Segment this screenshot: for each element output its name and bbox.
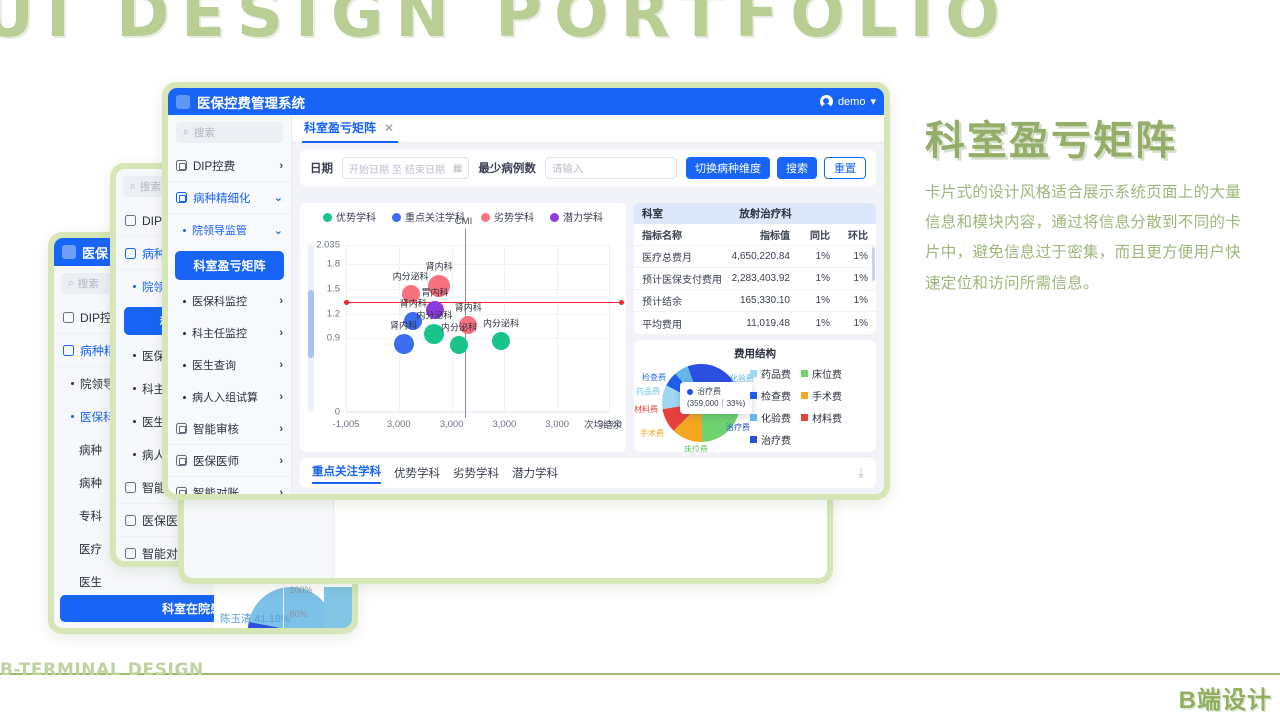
legend-swatch	[550, 213, 559, 222]
search-icon: ⌕	[68, 277, 74, 290]
sidebar-item-label: 科主任监控	[192, 325, 247, 341]
poster-root: UI DESIGN PORTFOLIO 科室盈亏矩阵 卡片式的设计风格适合展示系…	[0, 0, 1280, 720]
bullet-icon	[133, 387, 136, 390]
legend-swatch	[392, 213, 401, 222]
window-title: 医保控费管理系统	[197, 92, 305, 112]
content-area: 科室盈亏矩阵 ✕ 日期 开始日期 至 结束日期 ▦	[292, 115, 884, 494]
legend-swatch	[801, 370, 808, 377]
pie-legend-col-2: 床位费 手术费 材料费	[801, 366, 842, 447]
chevron-right-icon: ›	[279, 423, 283, 435]
pie-legend-item[interactable]: 药品费	[750, 366, 791, 381]
back2-search-placeholder: 搜索	[140, 179, 161, 194]
hospital-cmi-reference-line: 医院CMI	[346, 302, 622, 303]
legend-swatch	[750, 370, 757, 377]
footer-left-text: B-TERMINAL DESIGN	[0, 660, 204, 680]
sidebar-search-placeholder: 搜索	[194, 125, 215, 140]
module-icon	[125, 248, 136, 259]
x-axis-tick: 3,000	[387, 419, 411, 430]
date-range-input[interactable]: 开始日期 至 结束日期 ▦	[342, 157, 469, 179]
tab-profit-matrix[interactable]: 科室盈亏矩阵 ✕	[302, 115, 398, 143]
back3-bar-ytick-1: 80%	[290, 609, 308, 619]
gridline-horizontal	[346, 338, 610, 339]
x-axis-tick: 3,000	[493, 419, 517, 430]
bullet-icon	[183, 396, 186, 399]
scatter-plot: 00.91.21.51.82.035-1,0053,0003,0003,0003…	[346, 245, 610, 412]
calendar-icon[interactable]: ▦	[453, 163, 462, 174]
date-separator: 至	[392, 161, 402, 176]
sidebar-item-label: 医保科监控	[192, 293, 247, 309]
scatter-point[interactable]	[394, 334, 414, 354]
search-button[interactable]: 搜索	[777, 157, 817, 179]
user-menu[interactable]: demo ▾	[820, 95, 876, 108]
bullet-icon	[133, 453, 136, 456]
sidebar-item-patient-grouping[interactable]: 病人入组试算 ›	[168, 381, 291, 413]
legend-label: 药品费	[761, 366, 791, 381]
metrics-table: 科室 放射治疗科 指标名称 指标值 同比 环比	[634, 203, 876, 334]
cell-mom: 1%	[830, 273, 868, 284]
table-dept-header: 科室 放射治疗科	[634, 203, 876, 224]
col-mom: 环比	[830, 227, 868, 242]
x-axis-tick: 3,000	[545, 419, 569, 430]
cell-value: 4,650,220.84	[724, 251, 790, 262]
pie-legend-item[interactable]: 检查费	[750, 388, 791, 403]
chevron-right-icon: ›	[279, 391, 283, 403]
col-yoy: 同比	[790, 227, 830, 242]
gridline-horizontal	[346, 245, 610, 246]
tooltip-detail: (359,000｜33%)	[687, 398, 745, 410]
scatter-point-label: 内分泌科	[483, 317, 519, 330]
date-label: 日期	[310, 160, 333, 176]
back3-item-label: 专科	[71, 508, 102, 524]
pie-legend-item[interactable]: 治疗费	[750, 432, 791, 447]
sidebar-item-smart-reconcile[interactable]: 智能对账 ›	[168, 477, 291, 494]
gridline-vertical	[557, 245, 558, 412]
tooltip-name: 治疗费	[697, 386, 721, 398]
cell-value: 2,283,403.92	[724, 273, 790, 284]
chevron-right-icon: ›	[279, 455, 283, 467]
search-icon: ⌕	[183, 126, 189, 139]
sidebar-item-insurance-monitor[interactable]: 医保科监控 ›	[168, 285, 291, 317]
chevron-right-icon: ›	[279, 160, 283, 172]
pie-callout-床位费: 床位费	[684, 444, 708, 452]
bottom-tab-1[interactable]: 优势学科	[394, 465, 440, 481]
poster-banner-title: UI DESIGN PORTFOLIO	[0, 0, 1280, 44]
legend-label: 治疗费	[761, 432, 791, 447]
module-icon	[176, 160, 187, 171]
tooltip-dot-icon	[687, 389, 693, 395]
legend-swatch	[750, 414, 757, 421]
sidebar-item-profit-matrix[interactable]: 科室盈亏矩阵	[175, 251, 284, 280]
module-icon	[125, 515, 136, 526]
module-icon	[125, 215, 136, 226]
back3-title-text: 医保	[82, 243, 108, 262]
sidebar-item-smart-audit[interactable]: 智能审核 ›	[168, 413, 291, 445]
bullet-icon	[133, 354, 136, 357]
legend-label: 潜力学科	[563, 213, 603, 224]
sidebar-item-label: 智能审核	[193, 421, 239, 437]
y-axis-tick: 0	[335, 407, 340, 418]
bullet-icon	[133, 285, 136, 288]
pie-legend-item[interactable]: 床位费	[801, 366, 842, 381]
sidebar-item-label: DIP控费	[193, 158, 235, 174]
date-start-placeholder: 开始日期	[349, 161, 389, 176]
legend-item-2[interactable]: 劣势学科	[481, 209, 534, 224]
main-window-frame: 医保控费管理系统 demo ▾ ⌕ 搜索	[162, 82, 890, 500]
right-column: 科室 放射治疗科 指标名称 指标值 同比 环比	[634, 203, 876, 452]
sidebar-item-label: 智能对账	[193, 485, 239, 495]
pie-callout-手术费: 手术费	[640, 428, 664, 439]
chevron-down-icon: ⌄	[274, 224, 283, 237]
x-axis-tick: -1,005	[333, 419, 360, 430]
chevron-down-icon: ⌄	[274, 191, 283, 204]
y-axis-tick: 2.035	[316, 240, 340, 251]
date-end-placeholder: 结束日期	[405, 161, 445, 176]
chart-vertical-scrollbar[interactable]	[308, 243, 314, 412]
cell-yoy: 1%	[790, 295, 830, 306]
legend-swatch	[481, 213, 490, 222]
table-row[interactable]: 预计医保支付费用 2,283,403.92 1% 1%	[634, 268, 876, 290]
bullet-icon	[133, 420, 136, 423]
module-icon	[125, 548, 136, 559]
bottom-tab-2[interactable]: 劣势学科	[453, 465, 499, 481]
x-axis-title: 次均结余	[584, 417, 622, 431]
back3-pie-label-left: 陈玉清 41.18%	[220, 611, 290, 626]
module-icon	[63, 312, 74, 323]
legend-label: 优势学科	[336, 213, 376, 224]
bottom-tab-0[interactable]: 重点关注学科	[312, 463, 381, 484]
back3-search-placeholder: 搜索	[78, 276, 99, 291]
pie-legend-item[interactable]: 手术费	[801, 388, 842, 403]
window-titlebar: 医保控费管理系统 demo ▾	[168, 88, 884, 115]
switch-dimension-button[interactable]: 切换病种维度	[686, 157, 770, 179]
bullet-icon	[183, 300, 186, 303]
pie-callout-药品费: 药品费	[636, 386, 660, 397]
module-icon	[176, 455, 187, 466]
cell-name: 平均费用	[642, 316, 724, 331]
gridline-horizontal	[346, 264, 610, 265]
scrollbar-thumb[interactable]	[308, 290, 314, 358]
pie-tooltip: 治疗费 (359,000｜33%)	[680, 382, 752, 414]
content-tabbar: 科室盈亏矩阵 ✕	[292, 115, 884, 143]
cell-yoy: 1%	[790, 273, 830, 284]
table-row[interactable]: 预计结余 165,330.10 1% 1%	[634, 290, 876, 312]
sidebar-item-dip[interactable]: DIP控费 ›	[168, 150, 291, 182]
user-name: demo	[838, 96, 866, 108]
sidebar: ⌕ 搜索 DIP控费 › 病种精细化 ⌄	[168, 115, 292, 494]
sidebar-item-director-monitor[interactable]: 科主任监控 ›	[168, 317, 291, 349]
legend-swatch	[750, 392, 757, 399]
cell-name: 医疗总费月	[642, 249, 724, 264]
legend-swatch	[750, 436, 757, 443]
bottom-tabbar: 重点关注学科 优势学科 劣势学科 潜力学科 ⤓	[300, 458, 876, 488]
table-header-row: 指标名称 指标值 同比 环比	[634, 224, 876, 246]
back3-item-label: 病种	[71, 475, 102, 491]
sidebar-item-label: 病人入组试算	[192, 389, 258, 405]
back3-item-label: 医疗	[71, 541, 102, 557]
cell-value: 165,330.10	[724, 295, 790, 306]
min-cases-label: 最少病例数	[478, 160, 536, 176]
bullet-icon	[183, 364, 186, 367]
search-icon: ⌕	[130, 180, 136, 193]
cmi-axis-label: CMI	[455, 216, 472, 227]
dept-label: 科室	[642, 206, 663, 221]
close-icon[interactable]: ✕	[384, 121, 394, 135]
bullet-icon	[183, 332, 186, 335]
y-axis-tick: 1.5	[327, 283, 340, 294]
cell-mom: 1%	[830, 251, 868, 262]
sidebar-item-disease-refine[interactable]: 病种精细化 ⌄	[168, 182, 291, 214]
sidebar-item-insurance-physician[interactable]: 医保医师 ›	[168, 445, 291, 477]
scatter-point-label: 肾内科	[426, 259, 453, 272]
scatter-point[interactable]	[492, 332, 510, 350]
cell-yoy: 1%	[790, 318, 830, 329]
back3-item-label: 病种	[71, 442, 102, 458]
module-icon	[125, 482, 136, 493]
chevron-right-icon: ›	[279, 487, 283, 495]
legend-swatch	[323, 213, 332, 222]
app-logo-icon	[62, 245, 76, 259]
bullet-icon	[183, 229, 186, 232]
pie-legend-item[interactable]: 材料费	[801, 410, 842, 425]
pie-legend-item[interactable]: 化验费	[750, 410, 791, 425]
legend-label: 劣势学科	[494, 213, 534, 224]
legend-label: 手术费	[812, 388, 842, 403]
chevron-right-icon: ›	[279, 327, 283, 339]
scatter-point-label: 肾内科	[455, 301, 482, 314]
y-axis-tick: 1.2	[327, 308, 340, 319]
y-axis-tick: 1.8	[327, 259, 340, 270]
gridline-horizontal	[346, 289, 610, 290]
footer-right-text: B端设计	[1179, 680, 1272, 715]
copy-body: 卡片式的设计风格适合展示系统页面上的大量信息和模块内容，通过将信息分散到不同的卡…	[925, 178, 1255, 299]
sidebar-item-label: 医保医师	[193, 453, 239, 469]
bottom-tab-3[interactable]: 潜力学科	[512, 465, 558, 481]
cell-mom: 1%	[830, 295, 868, 306]
chevron-down-icon: ▾	[870, 95, 876, 108]
pie-callout-材料费: 材料费	[634, 404, 658, 415]
plot-grid	[346, 245, 610, 412]
pie-callout-检查费: 检查费	[642, 372, 666, 383]
pie-legend: 药品费 检查费 化验费 治疗费 床位费 手术费 材料	[750, 366, 842, 447]
poster-copy-block: 科室盈亏矩阵 卡片式的设计风格适合展示系统页面上的大量信息和模块内容，通过将信息…	[925, 118, 1255, 299]
back3-bar-ytick-0: 100%	[290, 585, 313, 595]
gridline-horizontal	[346, 412, 610, 413]
module-icon	[176, 423, 187, 434]
scatter-point[interactable]	[450, 336, 468, 354]
table-scrollbar[interactable]	[872, 247, 875, 281]
module-icon	[176, 192, 187, 203]
col-name: 指标名称	[642, 227, 724, 242]
sidebar-item-leader-supervision[interactable]: 院领导监管 ⌄	[168, 214, 291, 246]
app-logo-icon	[176, 95, 190, 109]
min-cases-input[interactable]: 请输入	[545, 157, 677, 179]
reset-button[interactable]: 重置	[824, 157, 866, 179]
scatter-chart-card: 优势学科 重点关注学科 劣势学科 潜力学科 00.91.21.51.82.035…	[300, 203, 626, 452]
filter-actions: 切换病种维度 搜索 重置	[686, 157, 866, 179]
cell-name: 预计结余	[642, 293, 724, 308]
scatter-point-label: 肾内科	[390, 319, 417, 332]
cell-name: 预计医保支付费用	[642, 271, 724, 286]
legend-label: 检查费	[761, 388, 791, 403]
sidebar-item-label: 病种精细化	[193, 190, 251, 206]
back3-item-label: 医生	[71, 574, 102, 590]
cell-yoy: 1%	[790, 251, 830, 262]
module-icon	[63, 345, 74, 356]
table-row[interactable]: 平均费用 11,019.48 1% 1%	[634, 312, 876, 334]
y-axis-tick: 0.9	[327, 333, 340, 344]
window-body: ⌕ 搜索 DIP控费 › 病种精细化 ⌄	[168, 115, 884, 494]
bullet-icon	[71, 382, 74, 385]
download-icon[interactable]: ⤓	[858, 465, 864, 481]
col-value: 指标值	[724, 227, 790, 242]
sidebar-item-label: 医生查询	[192, 357, 236, 373]
pie-title: 费用结构	[634, 340, 876, 361]
legend-label: 化验费	[761, 410, 791, 425]
scatter-point-label: 内分泌科	[393, 269, 429, 282]
sidebar-search-input[interactable]: ⌕ 搜索	[176, 122, 283, 143]
scatter-point-label: 内分泌科	[416, 308, 452, 321]
tab-label: 科室盈亏矩阵	[304, 119, 376, 136]
legend-item-0[interactable]: 优势学科	[323, 209, 376, 224]
legend-swatch	[801, 414, 808, 421]
module-icon	[176, 487, 187, 494]
cell-value: 11,019.48	[724, 318, 790, 329]
sidebar-item-doctor-query[interactable]: 医生查询 ›	[168, 349, 291, 381]
legend-label: 床位费	[812, 366, 842, 381]
legend-label: 材料费	[812, 410, 842, 425]
min-cases-placeholder: 请输入	[552, 161, 584, 176]
back3-bar	[324, 587, 352, 628]
legend-item-3[interactable]: 潜力学科	[550, 209, 603, 224]
dept-value: 放射治疗科	[663, 206, 868, 221]
scatter-point-label: 内分泌科	[441, 320, 477, 333]
bullet-icon	[71, 415, 74, 418]
legend-swatch	[801, 392, 808, 399]
pie-legend-col-1: 药品费 检查费 化验费 治疗费	[750, 366, 791, 447]
sidebar-item-label: 院领导监管	[192, 222, 247, 238]
table-row[interactable]: 医疗总费月 4,650,220.84 1% 1%	[634, 246, 876, 268]
main-window: 医保控费管理系统 demo ▾ ⌕ 搜索	[168, 88, 884, 494]
chevron-right-icon: ›	[279, 295, 283, 307]
cell-mom: 1%	[830, 318, 868, 329]
gridline-horizontal	[346, 314, 610, 315]
chevron-right-icon: ›	[279, 359, 283, 371]
copy-title: 科室盈亏矩阵	[925, 118, 1255, 164]
filter-bar: 日期 开始日期 至 结束日期 ▦ 最少病例数 请输入	[300, 150, 876, 186]
x-axis-tick: 3,000	[440, 419, 464, 430]
avatar-icon	[820, 95, 833, 108]
cost-structure-card: 费用结构 检查费 药品费 材料费 手术费 床位费 化验费 治疗费	[634, 340, 876, 452]
pie-callout-治疗费: 治疗费	[726, 422, 750, 433]
panels-row: 优势学科 重点关注学科 劣势学科 潜力学科 00.91.21.51.82.035…	[300, 203, 876, 452]
